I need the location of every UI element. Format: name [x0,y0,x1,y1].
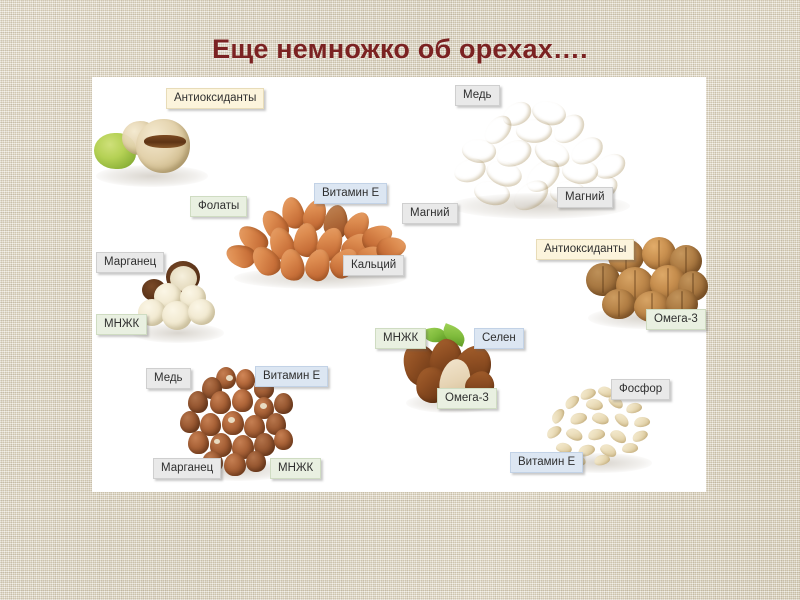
chip-brazil-mufa[interactable]: МНЖК [375,328,426,349]
pistachio-illustration [92,105,222,185]
chip-hazel-manganese[interactable]: Марганец [153,458,221,479]
chip-hazel-vitamin-e[interactable]: Витамин Е [255,366,328,387]
chip-almond-magnesium[interactable]: Магний [402,203,458,224]
nut-group-pistachios [92,105,222,185]
chip-brazil-selenium[interactable]: Селен [474,328,524,349]
chip-pistachio-antioxidants[interactable]: Антиоксиданты [166,88,264,109]
chip-pine-vitamin-e[interactable]: Витамин Е [510,452,583,473]
chip-hazel-mufa[interactable]: МНЖК [270,458,321,479]
page-title: Еще немножко об орехах…. [0,34,800,65]
presentation-slide: Еще немножко об орехах…. Антиоксиданты [0,0,800,600]
chip-cashew-copper[interactable]: Медь [455,85,500,106]
chip-cashew-magnesium[interactable]: Магний [557,187,613,208]
chip-macadamia-mufa[interactable]: МНЖК [96,314,147,335]
chip-almond-calcium[interactable]: Кальций [343,255,404,276]
chip-pine-phosphorus[interactable]: Фосфор [611,379,670,400]
chip-macadamia-manganese[interactable]: Марганец [96,252,164,273]
chip-hazel-copper[interactable]: Медь [146,368,191,389]
chip-walnut-antioxidants[interactable]: Антиоксиданты [536,239,634,260]
chip-walnut-omega3[interactable]: Омега-3 [646,309,706,330]
chip-almond-vitamin-e[interactable]: Витамин Е [314,183,387,204]
chip-almond-folate[interactable]: Фолаты [190,196,247,217]
content-panel: Антиоксиданты [92,77,706,492]
chip-brazil-omega3[interactable]: Омега-3 [437,388,497,409]
